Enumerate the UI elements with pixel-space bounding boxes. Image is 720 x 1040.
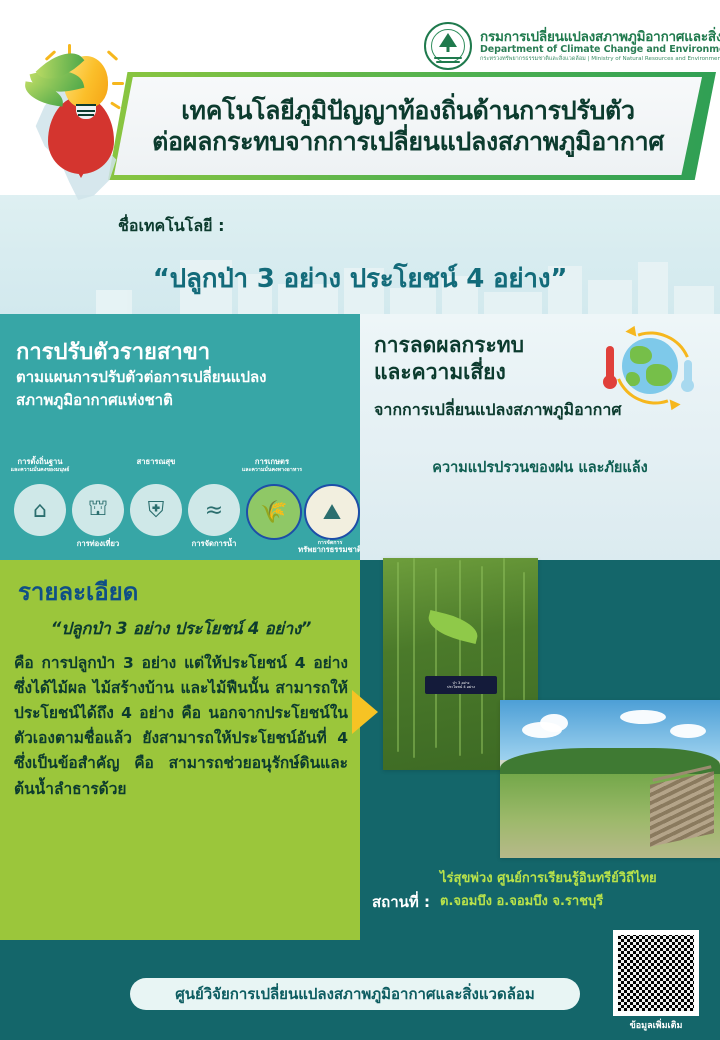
location-line-2: ต.จอมบึง อ.จอมบึง จ.ราชบุรี [440, 891, 716, 914]
location-value: ไร่สุขพ่วง ศูนย์การเรียนรู้อินทรีย์วิถีไ… [440, 868, 716, 914]
yellow-arrow-icon [352, 690, 378, 734]
technology-name: “ปลูกป่า 3 อย่าง ประโยชน์ 4 อย่าง” [0, 258, 720, 299]
plot-sign: ป่า 3 อย่าง ประโยชน์ 4 อย่าง [425, 676, 497, 694]
title-line-1: เทคโนโลยีภูมิปัญญาท้องถิ่นด้านการปรับตัว [181, 95, 634, 126]
cold-thermometer-icon [684, 360, 692, 384]
location-line-1: ไร่สุขพ่วง ศูนย์การเรียนรู้อินทรีย์วิถีไ… [440, 868, 716, 891]
adaptation-subheading-line-1: ตามแผนการปรับตัวต่อการเปลี่ยนแปลง [16, 366, 346, 389]
impact-heading-line-2: และความเสี่ยง [374, 359, 584, 386]
sector-icon-row: การตั้งถิ่นฐาน และความมั่นคงของมนุษย์ ⌂ … [8, 454, 356, 554]
details-heading: รายละเอียด [18, 572, 138, 611]
impact-heading-line-1: การลดผลกระทบ [374, 332, 584, 359]
details-paragraph: คือ การปลูกป่า 3 อย่าง แต่ให้ประโยชน์ 4 … [14, 651, 348, 802]
sign-line-2: ประโยชน์ 4 อย่าง [447, 685, 475, 689]
farm-landscape-photo [500, 700, 720, 858]
impact-subheading: จากการเปลี่ยนแปลงสภาพภูมิอากาศ [374, 398, 624, 423]
natural-resources-icon: ⛰ [304, 484, 360, 540]
department-logo: กรมการเปลี่ยนแปลงสภาพภูมิอากาศและสิ่งแวด… [424, 22, 720, 70]
qr-caption: ข้อมูลเพิ่มเติม [613, 1018, 699, 1032]
footer-text: ศูนย์วิจัยการเปลี่ยนแปลงสภาพภูมิอากาศและ… [175, 982, 535, 1006]
sector-public-health[interactable]: สาธารณสุข ⛨ [130, 484, 182, 536]
org-name-english: Department of Climate Change and Environ… [480, 45, 720, 56]
agriculture-icon: 🌾 [246, 484, 302, 540]
adaptation-panel: การปรับตัวรายสาขา ตามแผนการปรับตัวต่อการ… [0, 314, 360, 560]
adaptation-subheading: ตามแผนการปรับตัวต่อการเปลี่ยนแปลง สภาพภู… [16, 366, 346, 413]
water-management-icon: ≈ [188, 484, 240, 536]
public-health-icon: ⛨ [130, 484, 182, 536]
settlement-icon: ⌂ [14, 484, 66, 536]
impact-heading: การลดผลกระทบ และความเสี่ยง [374, 332, 584, 386]
sector-settlement[interactable]: การตั้งถิ่นฐาน และความมั่นคงของมนุษย์ ⌂ [14, 484, 66, 536]
hot-thermometer-icon [606, 346, 614, 380]
globe-thermometer-icon [622, 338, 678, 394]
details-panel: รายละเอียด “ปลูกป่า 3 อย่าง ประโยชน์ 4 อ… [0, 560, 360, 940]
details-quote: “ปลูกป่า 3 อย่าง ประโยชน์ 4 อย่าง” [14, 616, 348, 642]
org-name-thai: กรมการเปลี่ยนแปลงสภาพภูมิอากาศและสิ่งแวด… [480, 30, 720, 45]
footer-pill: ศูนย์วิจัยการเปลี่ยนแปลงสภาพภูมิอากาศและ… [130, 978, 580, 1010]
adaptation-subheading-line-2: สภาพภูมิอากาศแห่งชาติ [16, 389, 346, 412]
tourism-icon: ⛫ [72, 484, 124, 536]
poster-root: กรมการเปลี่ยนแปลงสภาพภูมิอากาศและสิ่งแวด… [0, 0, 720, 1040]
sector-agriculture[interactable]: การเกษตร และความมั่นคงทางอาหาร 🌾 [246, 484, 298, 540]
location-label: สถานที่ : [372, 890, 430, 914]
org-ministry: กระทรวงทรัพยากรธรรมชาติและสิ่งแวดล้อม | … [480, 56, 720, 62]
title-line-2: ต่อผลกระทบจากการเปลี่ยนแปลงสภาพภูมิอากาศ [152, 126, 664, 157]
sector-tourism[interactable]: ⛫ การท่องเที่ยว [72, 484, 124, 536]
main-title-banner: เทคโนโลยีภูมิปัญญาท้องถิ่นด้านการปรับตัว… [108, 72, 716, 180]
tree-seal-icon [424, 22, 472, 70]
sector-water-management[interactable]: ≈ การจัดการน้ำ [188, 484, 240, 536]
adaptation-heading: การปรับตัวรายสาขา [16, 334, 210, 369]
technology-label: ชื่อเทคโนโลยี : [118, 214, 224, 239]
qr-code-icon[interactable] [613, 930, 699, 1016]
lightbulb-leaf-map-pin-icon [14, 42, 154, 202]
sector-natural-resources[interactable]: ⛰ การจัดการ ทรัพยากรธรรมชาติ [304, 484, 356, 540]
impact-note: ความแปรปรวนของฝน และภัยแล้ง [360, 456, 720, 479]
impact-panel: การลดผลกระทบ และความเสี่ยง จากการเปลี่ยน… [360, 314, 720, 560]
